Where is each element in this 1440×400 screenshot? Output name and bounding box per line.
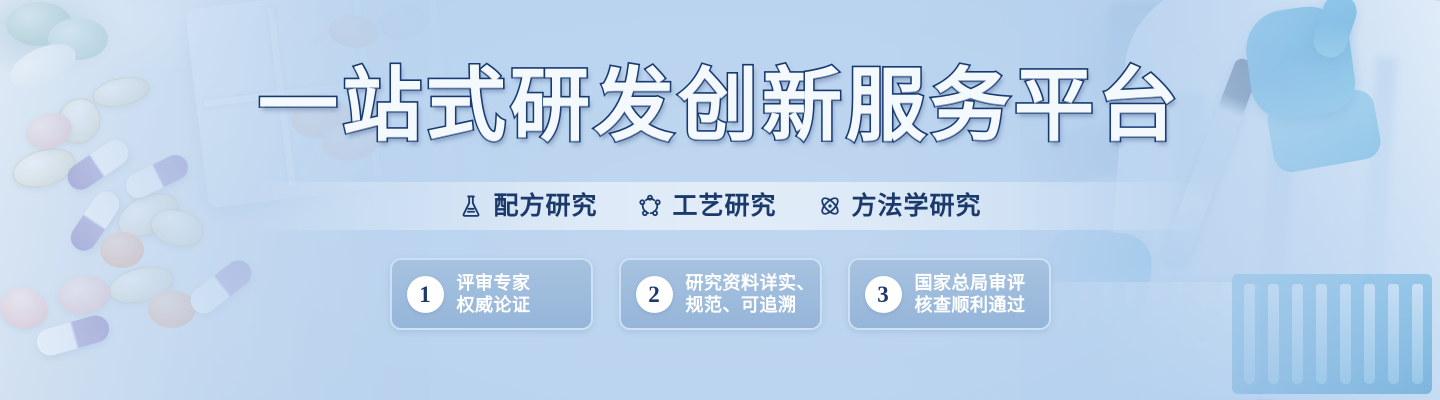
molecule-icon (637, 193, 663, 219)
feature-card-line-1: 研究资料详实、 (686, 272, 816, 294)
flask-icon (458, 193, 484, 219)
feature-card-number: 1 (407, 276, 444, 313)
service-category-list: 配方研究 工艺研究 (0, 186, 1440, 226)
service-category-formulation[interactable]: 配方研究 (458, 193, 597, 219)
feature-card-line-2: 权威论证 (457, 294, 531, 316)
service-category-label: 配方研究 (493, 194, 597, 219)
banner-title: 一站式研发创新服务平台 (0, 66, 1440, 146)
feature-card-1[interactable]: 1 评审专家 权威论证 (390, 258, 593, 330)
service-category-methodology[interactable]: 方法学研究 (817, 193, 982, 219)
feature-card-2[interactable]: 2 研究资料详实、 规范、可追溯 (619, 258, 822, 330)
feature-card-line-2: 规范、可追溯 (686, 294, 816, 316)
feature-card-text: 评审专家 权威论证 (457, 272, 531, 316)
feature-card-list: 1 评审专家 权威论证 2 研究资料详实、 规范、可追溯 3 国家总局审评 核查… (0, 258, 1440, 330)
feature-card-line-1: 国家总局审评 (915, 272, 1026, 294)
feature-card-3[interactable]: 3 国家总局审评 核查顺利通过 (848, 258, 1051, 330)
feature-card-text: 研究资料详实、 规范、可追溯 (686, 272, 816, 316)
service-category-process[interactable]: 工艺研究 (637, 193, 776, 219)
feature-card-number: 2 (636, 276, 673, 313)
service-category-label: 方法学研究 (852, 194, 982, 219)
service-category-label: 工艺研究 (672, 194, 776, 219)
promo-banner: 一站式研发创新服务平台 配方研究 (0, 0, 1440, 400)
feature-card-text: 国家总局审评 核查顺利通过 (915, 272, 1026, 316)
feature-card-line-2: 核查顺利通过 (915, 294, 1026, 316)
feature-card-number: 3 (865, 276, 902, 313)
atom-icon (817, 193, 843, 219)
feature-card-line-1: 评审专家 (457, 272, 531, 294)
